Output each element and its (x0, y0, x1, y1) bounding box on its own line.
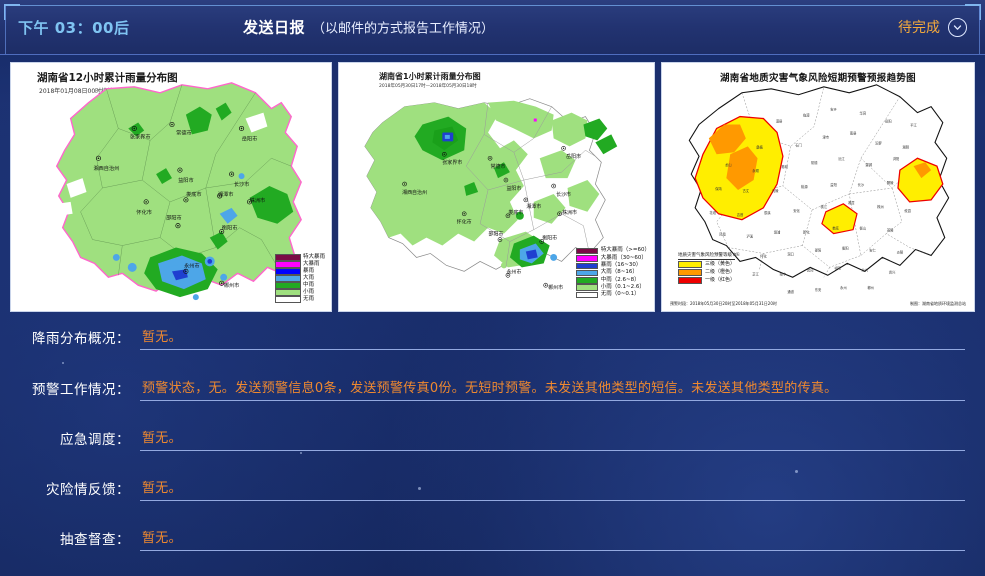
field-value: 暂无。 (142, 481, 182, 496)
legend-item: 特大暴雨 (275, 254, 325, 261)
legend-item: 无雨（0~0.1） (576, 292, 650, 299)
legend-item: 中雨 (275, 282, 325, 289)
field-label: 降雨分布概况： (0, 327, 140, 350)
svg-text:湘潭市: 湘潭市 (526, 203, 541, 210)
svg-text:龙山: 龙山 (725, 162, 732, 167)
legend-swatch (576, 263, 598, 270)
legend-label: 暴雨（16~30） (601, 263, 642, 269)
svg-text:张家界市: 张家界市 (442, 159, 462, 166)
svg-text:常德市: 常德市 (491, 163, 506, 170)
field-input-emergency-dispatch[interactable]: 暂无。 (140, 427, 965, 451)
svg-text:岳阳市: 岳阳市 (242, 134, 257, 142)
svg-text:溆浦: 溆浦 (774, 230, 781, 235)
legend-item: 暴雨 (275, 268, 325, 275)
report-form: 降雨分布概况： 暂无。 预警工作情况： 预警状态，无。发送预警信息0条，发送预警… (0, 326, 985, 551)
header-left-rule (5, 6, 6, 54)
svg-text:安乡: 安乡 (830, 107, 837, 112)
map-footnote: 预警时段：2018年05月30日20时至2018年05月31日20时 制图：湖南… (670, 301, 966, 307)
svg-text:绥宁: 绥宁 (780, 271, 787, 276)
svg-text:益阳: 益阳 (830, 182, 837, 187)
svg-text:花垣: 花垣 (709, 210, 716, 215)
svg-text:娄底市: 娄底市 (186, 190, 201, 198)
field-input-spot-inspection[interactable]: 暂无。 (140, 527, 965, 551)
legend-item: 中雨（2.6~8） (576, 277, 650, 284)
svg-text:炎陵: 炎陵 (897, 249, 904, 254)
form-field-rainfall-overview: 降雨分布概况： 暂无。 (0, 326, 965, 350)
legend-item: 大暴雨（30~60） (576, 255, 650, 262)
svg-text:永州市: 永州市 (184, 261, 199, 269)
map-card-geohazard-warning[interactable]: 湖南省地质灾害气象风险短期预警预报趋势图 (661, 62, 975, 312)
svg-text:衡阳市: 衡阳市 (542, 235, 557, 242)
svg-text:衡阳市: 衡阳市 (222, 224, 237, 232)
daily-report-page: 下午 03：00后 发送日报 （以邮件的方式报告工作情况） 待完成 湖南省12小… (0, 0, 985, 576)
svg-text:娄底: 娄底 (832, 226, 839, 231)
svg-text:长沙: 长沙 (858, 182, 865, 187)
svg-text:张家界市: 张家界市 (130, 132, 151, 140)
svg-text:邵阳: 邵阳 (815, 247, 822, 252)
svg-text:祁阳: 祁阳 (834, 265, 841, 270)
legend-swatch (678, 261, 702, 268)
legend-item: 大雨（8~16） (576, 270, 650, 277)
map-legend-1h: 特大暴雨（>=60）大暴雨（30~60）暴雨（16~30）大雨（8~16）中雨（… (576, 248, 650, 299)
task-title-group: 发送日报 （以邮件的方式报告工作情况） (243, 17, 494, 38)
svg-text:郴州市: 郴州市 (224, 281, 239, 289)
legend-item: 大暴雨 (275, 261, 325, 268)
legend-heading: 地质灾害气象风险预警等级 (678, 252, 735, 260)
svg-text:安化: 安化 (793, 208, 800, 213)
legend-label: 小雨（0.1~2.6） (601, 285, 645, 291)
svg-text:湘阴: 湘阴 (902, 144, 909, 149)
form-field-spot-inspection: 抽查督查： 暂无。 (0, 527, 965, 551)
svg-text:桃源: 桃源 (801, 184, 808, 189)
legend-item: 一级（红色） (678, 277, 735, 284)
svg-text:永州: 永州 (840, 285, 847, 290)
svg-text:益阳市: 益阳市 (506, 185, 521, 192)
legend-label: 无雨（0~0.1） (601, 292, 640, 298)
map-card-12h-rainfall[interactable]: 湖南省12小时累计雨量分布图 2018年01月08日00时统计 (10, 62, 332, 312)
map-panel-row: 湖南省12小时累计雨量分布图 2018年01月08日00时统计 (10, 62, 975, 312)
svg-text:湘潭市: 湘潭市 (218, 190, 233, 198)
legend-swatch (576, 284, 598, 291)
field-value: 暂无。 (142, 330, 182, 345)
legend-label: 大雨 (303, 276, 314, 282)
legend-label: 特大暴雨（>=60） (601, 248, 650, 254)
svg-text:怀化市: 怀化市 (457, 219, 472, 226)
svg-text:津市: 津市 (823, 134, 830, 139)
page-subtitle: （以邮件的方式报告工作情况） (312, 18, 494, 37)
legend-label: 中雨 (303, 283, 314, 289)
field-value: 预警状态，无。发送预警信息0条，发送预警传真0份。无短时预警。未发送其他类型的短… (142, 381, 837, 396)
legend-label: 三级（黄色） (705, 262, 735, 267)
legend-label: 大暴雨（30~60） (601, 256, 647, 262)
svg-text:湘西自治州: 湘西自治州 (402, 189, 427, 196)
legend-swatch (678, 269, 702, 276)
svg-text:长沙市: 长沙市 (234, 180, 249, 188)
legend-item: 小雨（0.1~2.6） (576, 284, 650, 291)
legend-swatch (576, 270, 598, 277)
svg-text:慈利: 慈利 (782, 164, 789, 169)
svg-text:娄底市: 娄底市 (508, 209, 523, 216)
legend-label: 一级（红色） (705, 278, 735, 283)
svg-text:衡阳: 衡阳 (842, 245, 849, 250)
header-right-rule (979, 6, 980, 54)
svg-text:衡山: 衡山 (860, 226, 867, 231)
map-card-1h-rainfall[interactable]: 湖南省1小时累计雨量分布图 2018年05月30日17时—2018年05月30日… (338, 62, 655, 312)
svg-text:泸溪: 泸溪 (746, 234, 753, 239)
svg-text:益阳市: 益阳市 (178, 176, 193, 184)
svg-text:保靖: 保靖 (715, 186, 722, 191)
svg-text:资兴: 资兴 (889, 269, 896, 274)
svg-text:桑植: 桑植 (756, 144, 763, 149)
svg-text:桃江: 桃江 (821, 204, 828, 209)
svg-text:岳阳市: 岳阳市 (566, 153, 581, 160)
legend-label: 大雨（8~16） (601, 270, 638, 276)
svg-text:常德市: 常德市 (176, 128, 191, 136)
legend-label: 暴雨 (303, 269, 314, 275)
svg-text:茶陵: 茶陵 (887, 228, 894, 233)
legend-item: 无雨 (275, 296, 325, 303)
svg-text:望城: 望城 (865, 162, 872, 167)
legend-swatch (678, 277, 702, 284)
svg-text:怀化市: 怀化市 (136, 208, 151, 216)
svg-text:辰溪: 辰溪 (764, 210, 771, 215)
legend-swatch (275, 268, 301, 275)
legend-label: 无雨 (303, 297, 314, 303)
svg-text:芷江: 芷江 (752, 271, 759, 276)
svg-text:郴州: 郴州 (867, 285, 874, 290)
legend-swatch (275, 282, 301, 289)
svg-text:新化: 新化 (803, 230, 810, 235)
svg-text:攸县: 攸县 (904, 208, 911, 213)
svg-text:武冈: 武冈 (807, 267, 814, 272)
svg-text:岳阳: 岳阳 (885, 118, 892, 123)
field-label: 抽查督查： (0, 528, 140, 551)
svg-text:醴陵: 醴陵 (887, 180, 894, 185)
legend-swatch (275, 289, 301, 296)
legend-label: 大暴雨 (303, 262, 320, 268)
map-footnote-right: 制图：湖南省地质环境监测总站 (910, 301, 966, 307)
legend-swatch (275, 254, 301, 261)
svg-text:浏阳: 浏阳 (893, 156, 900, 161)
svg-text:常德: 常德 (811, 160, 818, 165)
legend-swatch (275, 261, 301, 268)
legend-swatch (576, 248, 598, 255)
svg-text:株洲市: 株洲市 (250, 196, 265, 204)
svg-text:澧县: 澧县 (776, 118, 783, 123)
svg-text:石门: 石门 (795, 142, 802, 147)
svg-text:湘西自治州: 湘西自治州 (93, 164, 119, 172)
field-label: 应急调度： (0, 428, 140, 451)
header-corner-top-left (4, 4, 20, 20)
svg-text:东安: 东安 (815, 287, 822, 292)
legend-item: 二级（橙色） (678, 269, 735, 276)
form-field-warning-work: 预警工作情况： 预警状态，无。发送预警信息0条，发送预警传真0份。无短时预警。未… (0, 377, 965, 401)
field-input-warning-work[interactable]: 预警状态，无。发送预警信息0条，发送预警传真0份。无短时预警。未发送其他类型的短… (140, 377, 965, 401)
field-value: 暂无。 (142, 431, 182, 446)
svg-text:洞口: 洞口 (787, 251, 794, 256)
map-footnote-left: 预警时段：2018年05月30日20时至2018年05月31日20时 (670, 301, 777, 307)
svg-text:凤凰: 凤凰 (719, 232, 726, 237)
svg-text:沅陵: 沅陵 (772, 188, 779, 193)
task-time-label: 下午 03：00后 (18, 17, 129, 38)
chevron-down-circle-icon[interactable] (948, 18, 967, 37)
svg-text:湘潭: 湘潭 (848, 200, 855, 205)
svg-text:安仁: 安仁 (869, 247, 876, 252)
legend-item: 大雨 (275, 275, 325, 282)
field-label: 灾险情反馈： (0, 478, 140, 501)
page-title: 发送日报 (243, 17, 305, 38)
svg-text:汨罗: 汨罗 (875, 140, 882, 145)
svg-text:永州市: 永州市 (506, 268, 521, 275)
svg-text:株洲市: 株洲市 (562, 209, 577, 216)
legend-swatch (576, 292, 598, 299)
svg-text:永兴: 永兴 (862, 267, 869, 272)
legend-label: 特大暴雨 (303, 255, 325, 261)
field-input-disaster-feedback[interactable]: 暂无。 (140, 477, 965, 501)
svg-text:华容: 华容 (860, 111, 867, 116)
svg-text:通道: 通道 (787, 289, 794, 294)
legend-label: 小雨 (303, 290, 314, 296)
form-field-disaster-feedback: 灾险情反馈： 暂无。 (0, 477, 965, 501)
svg-text:株洲: 株洲 (877, 204, 884, 209)
svg-text:沅江: 沅江 (838, 156, 845, 161)
svg-text:长沙市: 长沙市 (556, 191, 571, 198)
legend-swatch (275, 275, 301, 282)
legend-item: 特大暴雨（>=60） (576, 248, 650, 255)
legend-swatch (576, 255, 598, 262)
map-legend-12h: 特大暴雨大暴雨暴雨大雨中雨小雨无雨 (275, 254, 325, 303)
svg-text:永顺: 永顺 (752, 168, 759, 173)
svg-text:吉首: 吉首 (737, 212, 744, 217)
map-legend-geohazard: 地质灾害气象风险预警等级 三级（黄色）二级（橙色）一级（红色） (678, 252, 735, 286)
legend-label: 中雨（2.6~8） (601, 278, 640, 284)
task-status-group: 待完成 (898, 17, 967, 37)
page-header: 下午 03：00后 发送日报 （以邮件的方式报告工作情况） 待完成 (0, 0, 985, 55)
field-value: 暂无。 (142, 531, 182, 546)
svg-text:临澧: 临澧 (803, 113, 810, 118)
status-badge: 待完成 (898, 17, 940, 37)
svg-text:怀化: 怀化 (760, 253, 767, 258)
field-input-rainfall-overview[interactable]: 暂无。 (140, 326, 965, 350)
field-label: 预警工作情况： (0, 378, 140, 401)
legend-label: 二级（橙色） (705, 270, 735, 275)
form-field-emergency-dispatch: 应急调度： 暂无。 (0, 427, 965, 451)
header-top-rule (20, 5, 965, 6)
svg-text:古丈: 古丈 (743, 188, 750, 193)
svg-text:郴州市: 郴州市 (548, 284, 563, 291)
svg-text:邵阳市: 邵阳市 (489, 231, 504, 238)
svg-text:邵阳市: 邵阳市 (166, 214, 181, 222)
legend-item: 三级（黄色） (678, 261, 735, 268)
svg-text:平江: 平江 (910, 122, 917, 127)
legend-swatch (275, 296, 301, 303)
legend-swatch (576, 277, 598, 284)
svg-text:南县: 南县 (850, 130, 857, 135)
legend-item: 小雨 (275, 289, 325, 296)
